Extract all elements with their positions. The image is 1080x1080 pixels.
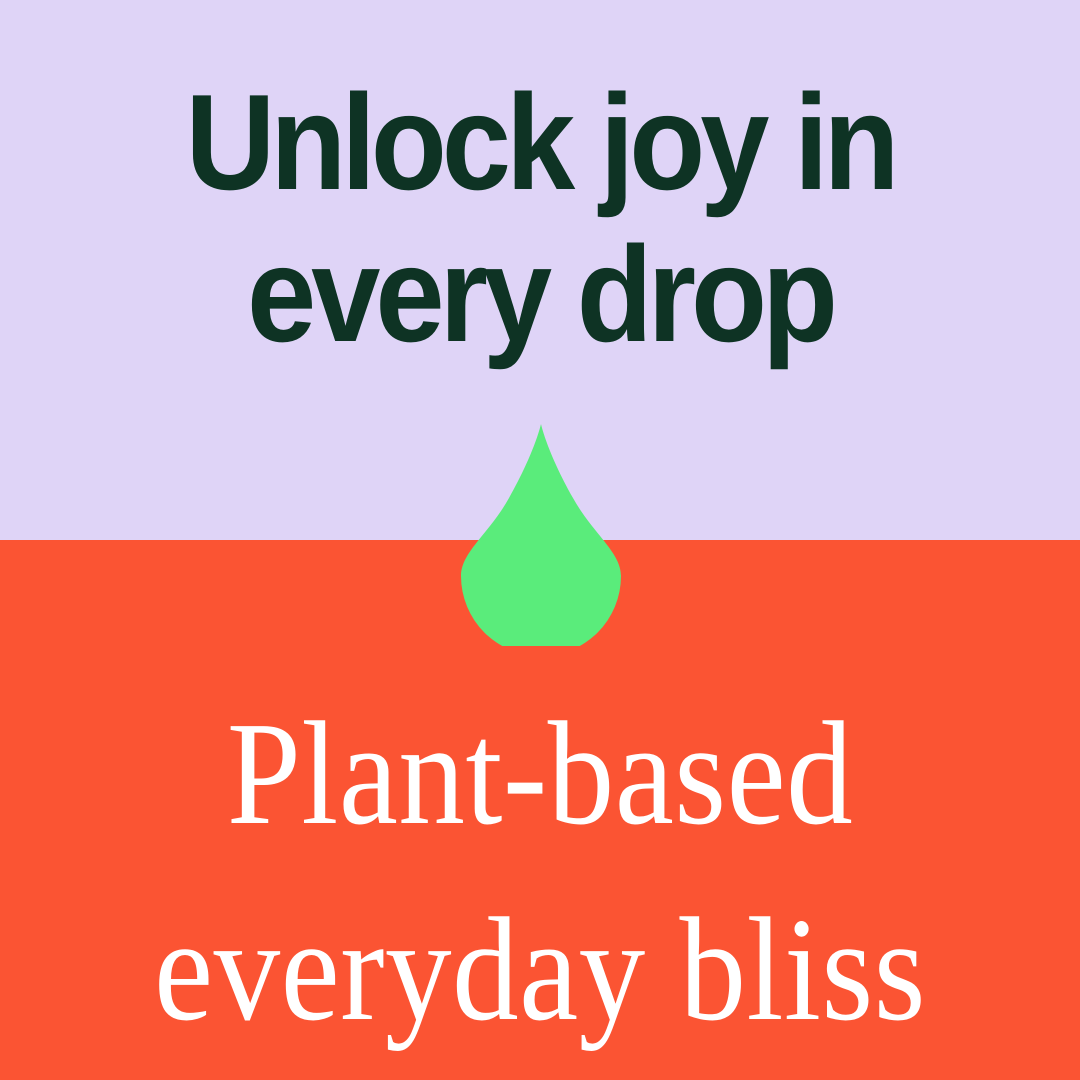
headline: Unlock joy in every drop (46, 66, 1034, 370)
water-drop-icon (461, 424, 621, 646)
subline-line-1: Plant-based (54, 676, 1026, 872)
headline-line-2: every drop (46, 218, 1034, 370)
headline-line-1: Unlock joy in (46, 66, 1034, 218)
subline-line-2: everyday bliss (54, 872, 1026, 1068)
poster-canvas: Unlock joy in every drop Plant-based eve… (0, 0, 1080, 1080)
water-drop-shape (461, 424, 621, 646)
subline: Plant-based everyday bliss (54, 676, 1026, 1068)
